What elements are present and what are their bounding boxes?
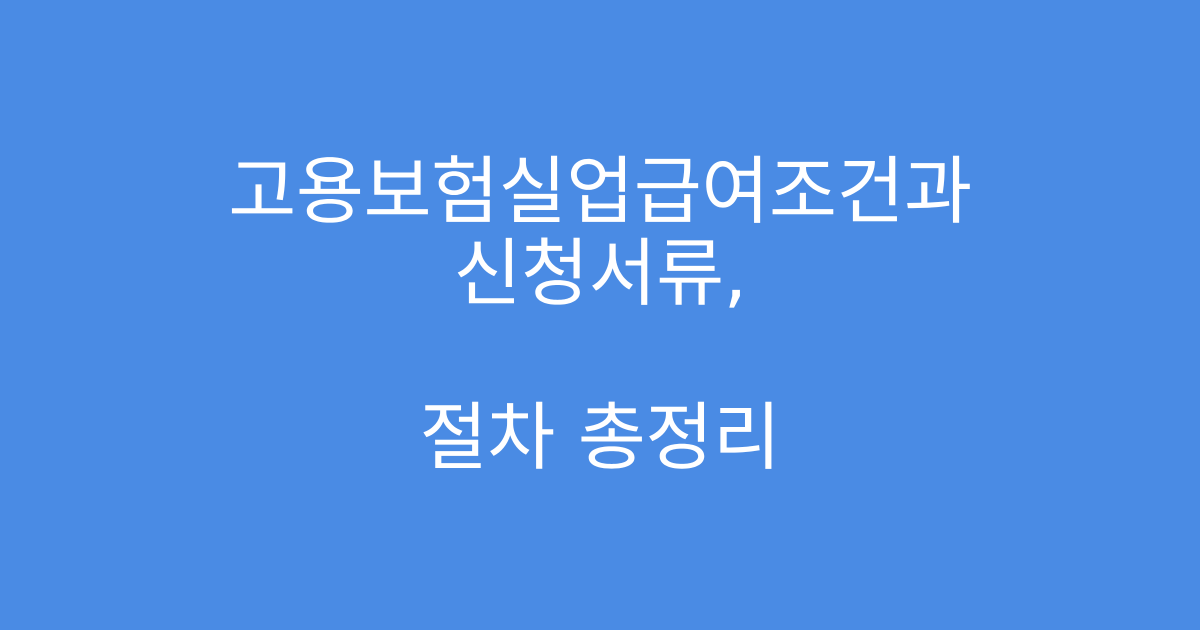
page-title: 고용보험실업급여조건과 신청서류, 절차 총정리 [74,69,1126,561]
title-line-1: 고용보험실업급여조건과 신청서류, [74,151,1126,315]
share-card: 고용보험실업급여조건과 신청서류, 절차 총정리 [0,0,1200,630]
title-line-2: 절차 총정리 [74,397,1126,479]
title-block: 고용보험실업급여조건과 신청서류, 절차 총정리 [50,69,1150,561]
